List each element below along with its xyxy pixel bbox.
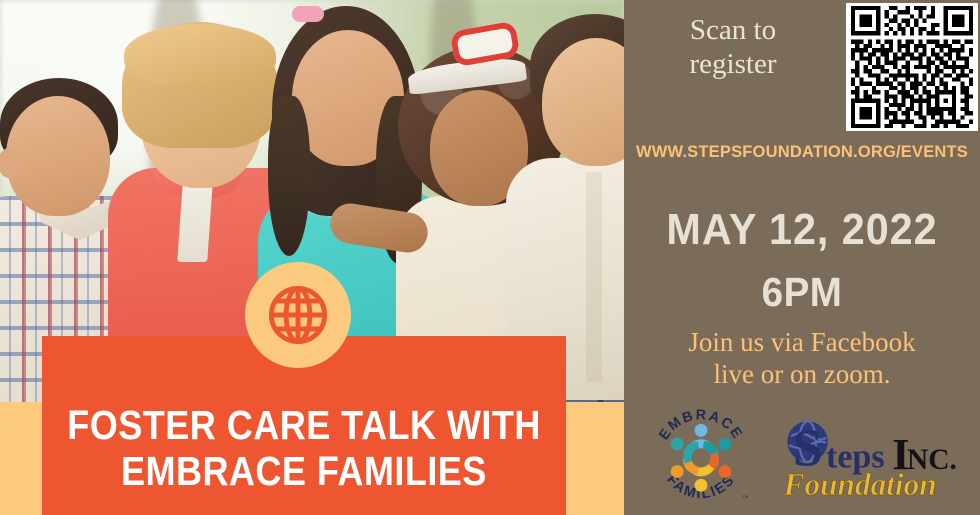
globe-icon: [263, 280, 333, 350]
globe-badge: [245, 262, 351, 368]
join-line-2: live or on zoom.: [632, 358, 972, 390]
scan-line-1: Scan to: [638, 14, 828, 48]
embrace-families-logo: EMBRACE FAMILIES: [646, 401, 756, 511]
steps-inc-foundation-logo: S teps I NC. Foundation: [770, 414, 974, 506]
foundation-word: Foundation: [783, 467, 937, 502]
qr-code[interactable]: [846, 3, 978, 131]
headline-line-1: FOSTER CARE TALK WITH: [67, 403, 541, 449]
scan-to-register-text: Scan to register: [638, 14, 828, 81]
event-flyer: FOSTER CARE TALK WITH EMBRACE FAMILIES S…: [0, 0, 980, 515]
qr-code-image: [849, 6, 975, 128]
join-line-1: Join us via Facebook: [632, 326, 972, 358]
event-date: MAY 12, 2022: [635, 205, 970, 255]
registration-url[interactable]: WWW.STEPSFOUNDATION.ORG/EVENTS: [624, 143, 980, 162]
headline-line-2: EMBRACE FAMILIES: [121, 449, 487, 495]
scan-line-2: register: [638, 48, 828, 82]
join-instructions: Join us via Facebook live or on zoom.: [632, 326, 972, 391]
event-time: 6PM: [635, 269, 970, 316]
trademark-mark: ™: [742, 495, 748, 502]
info-panel: Scan to register: [624, 0, 980, 515]
